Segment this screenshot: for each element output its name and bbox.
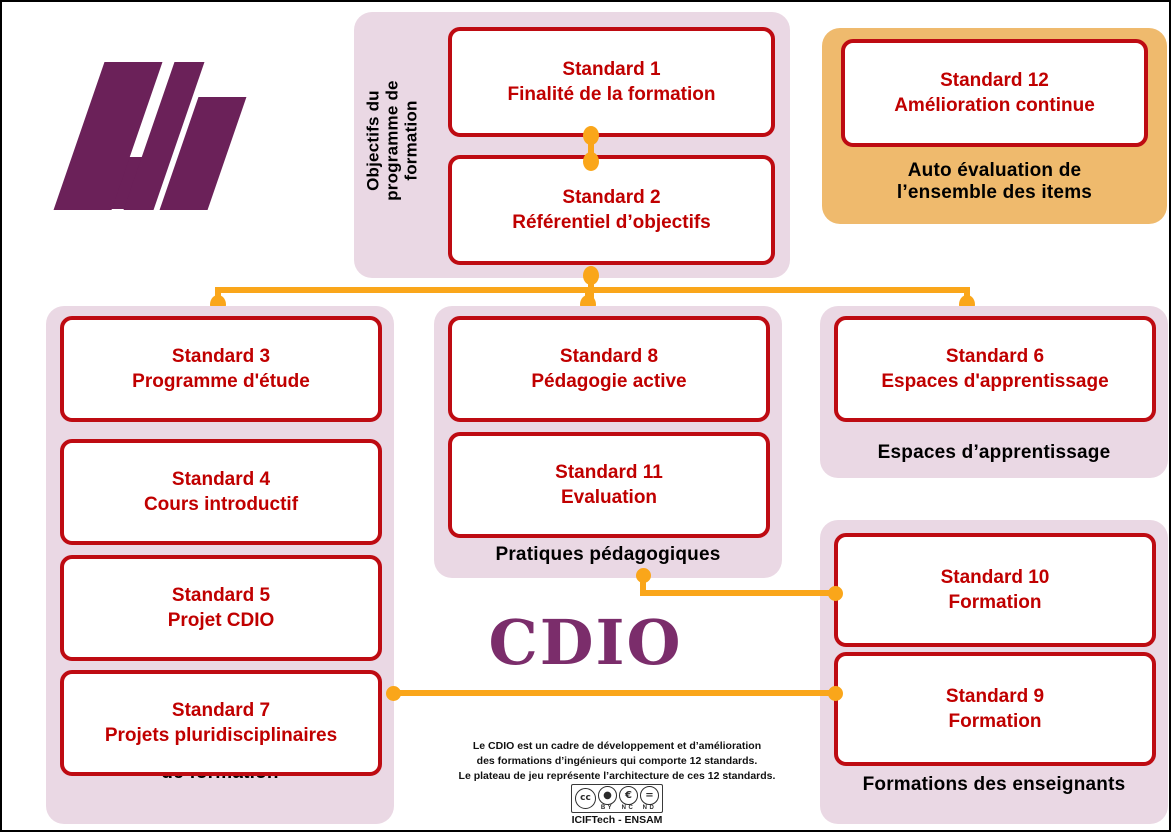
- standard-7-number: Standard 7: [172, 698, 270, 723]
- standard-3-number: Standard 3: [172, 344, 270, 369]
- standard-6-card[interactable]: Standard 6 Espaces d'apprentissage: [834, 316, 1156, 422]
- standard-6-number: Standard 6: [946, 344, 1044, 369]
- connector-dot-pratiques-bottom: [636, 568, 651, 583]
- standard-2-title: Référentiel d’objectifs: [512, 210, 711, 235]
- cc-by-label: BY: [601, 805, 614, 811]
- group-auto-evaluation-label-line2: l’ensemble des items: [822, 182, 1167, 204]
- standard-4-number: Standard 4: [172, 467, 270, 492]
- group-objectifs-label-line2: programme de: [382, 41, 401, 241]
- standard-7-title: Projets pluridisciplinaires: [105, 723, 337, 748]
- connector-dot-s9: [828, 686, 843, 701]
- standard-3-card[interactable]: Standard 3 Programme d'étude: [60, 316, 382, 422]
- footnote-line3: Le plateau de jeu représente l’architect…: [442, 769, 792, 784]
- connector-s7-to-s9: [392, 690, 842, 696]
- cc-nd-icon: =: [640, 786, 659, 805]
- standard-12-title: Amélioration continue: [894, 93, 1095, 118]
- group-espaces-label-line1: Espaces d’apprentissage: [820, 442, 1168, 464]
- cc-mark-icon: cc: [575, 788, 596, 809]
- license-credit: ICIFTech - ENSAM: [442, 814, 792, 826]
- cc-by-icon: ●: [598, 786, 617, 805]
- group-objectifs-label: Objectifs du programme de formation: [363, 41, 420, 241]
- standard-9-number: Standard 9: [946, 684, 1044, 709]
- cdio-board: Objectifs du programme de formation Stan…: [0, 0, 1171, 832]
- connector-dot-s2: [583, 152, 599, 171]
- group-formations-label: Formations des enseignants: [820, 774, 1168, 796]
- cc-nc-icon: €: [619, 786, 638, 805]
- arts-et-metiers-ensam-logo: [46, 54, 266, 194]
- standard-12-number: Standard 12: [940, 68, 1049, 93]
- standard-8-number: Standard 8: [560, 344, 658, 369]
- connector-dot-s10: [828, 586, 843, 601]
- license-block: cc ● BY € NC = ND ICIFTech - ENSAM: [442, 784, 792, 826]
- group-pratiques-label: Pratiques pédagogiques: [434, 544, 782, 566]
- footnote-text: Le CDIO est un cadre de développement et…: [442, 739, 792, 785]
- standard-1-number: Standard 1: [562, 57, 660, 82]
- standard-1-card[interactable]: Standard 1 Finalité de la formation: [448, 27, 775, 137]
- standard-8-card[interactable]: Standard 8 Pédagogie active: [448, 316, 770, 422]
- standard-4-card[interactable]: Standard 4 Cours introductif: [60, 439, 382, 545]
- group-formations-label-line1: Formations des enseignants: [820, 774, 1168, 796]
- group-pratiques-label-line1: Pratiques pédagogiques: [434, 544, 782, 566]
- standard-3-title: Programme d'étude: [132, 369, 310, 394]
- standard-8-title: Pédagogie active: [531, 369, 686, 394]
- connector-pratiques-to-s10: [640, 590, 842, 596]
- group-espaces-label: Espaces d’apprentissage: [820, 442, 1168, 464]
- standard-11-card[interactable]: Standard 11 Evaluation: [448, 432, 770, 538]
- connector-bus-horizontal: [215, 287, 970, 293]
- standard-2-number: Standard 2: [562, 185, 660, 210]
- connector-dot-bus-top: [583, 266, 599, 285]
- footnote-line1: Le CDIO est un cadre de développement et…: [442, 739, 792, 754]
- group-objectifs-label-line1: Objectifs du: [363, 41, 382, 241]
- connector-dot-s1: [583, 126, 599, 145]
- standard-10-number: Standard 10: [941, 565, 1050, 590]
- group-auto-evaluation-label-line1: Auto évaluation de: [822, 160, 1167, 182]
- group-objectifs-label-line3: formation: [402, 41, 421, 241]
- standard-4-title: Cours introductif: [144, 492, 298, 517]
- standard-6-title: Espaces d'apprentissage: [881, 369, 1108, 394]
- standard-5-number: Standard 5: [172, 583, 270, 608]
- standard-11-number: Standard 11: [555, 460, 663, 485]
- standard-12-card[interactable]: Standard 12 Amélioration continue: [841, 39, 1148, 147]
- group-auto-evaluation-label: Auto évaluation de l’ensemble des items: [822, 160, 1167, 205]
- cc-nd-label: ND: [643, 805, 657, 811]
- cdio-wordmark: CDIO: [2, 606, 1169, 679]
- standard-1-title: Finalité de la formation: [508, 82, 716, 107]
- cc-nc-label: NC: [622, 805, 636, 811]
- standard-2-card[interactable]: Standard 2 Référentiel d’objectifs: [448, 155, 775, 265]
- footnote-line2: des formations d’ingénieurs qui comporte…: [442, 754, 792, 769]
- standard-11-title: Evaluation: [561, 485, 657, 510]
- standard-9-title: Formation: [949, 709, 1042, 734]
- creative-commons-icon: cc ● BY € NC = ND: [571, 784, 663, 813]
- connector-dot-s7: [386, 686, 401, 701]
- standard-7-card[interactable]: Standard 7 Projets pluridisciplinaires: [60, 670, 382, 776]
